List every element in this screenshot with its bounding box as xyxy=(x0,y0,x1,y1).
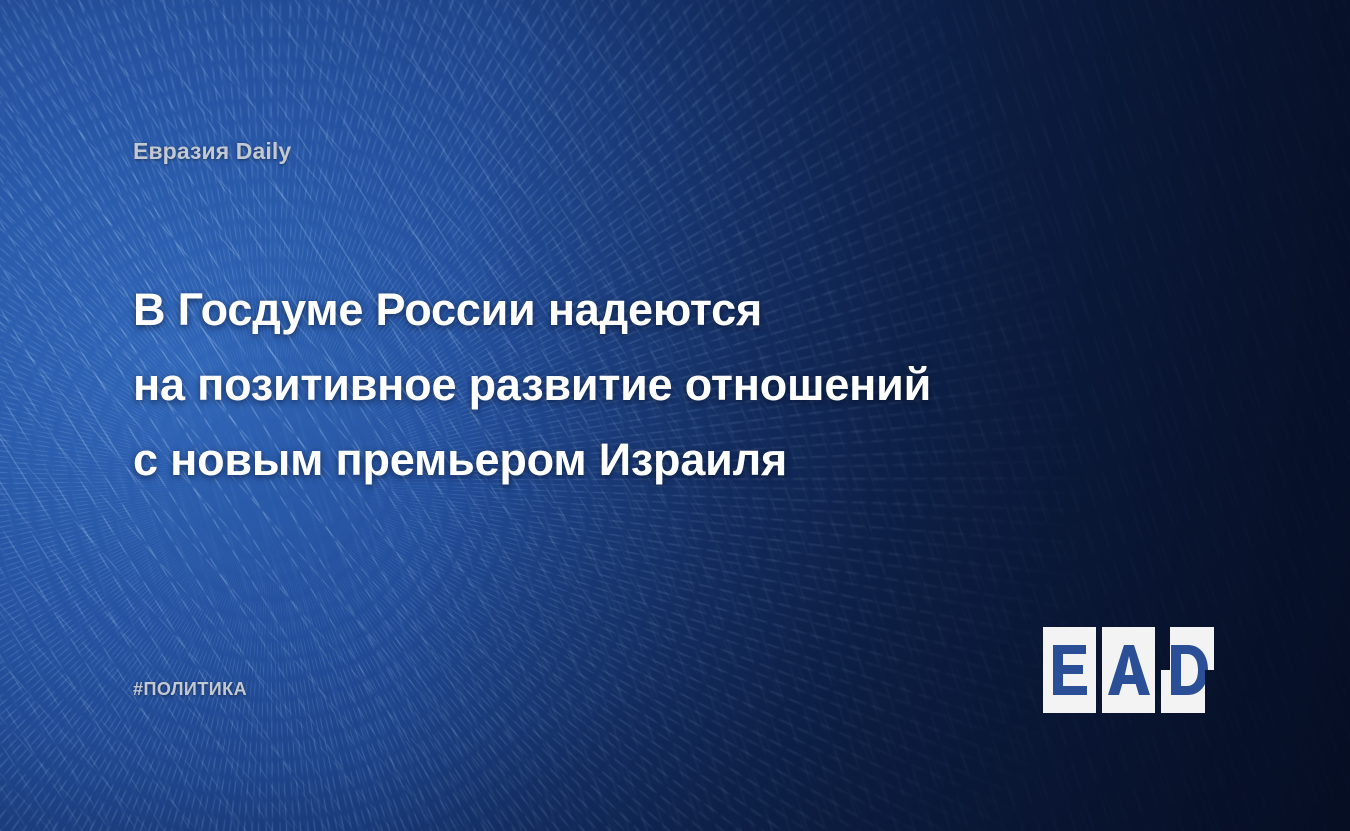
headline-line-3: с новым премьером Израиля xyxy=(133,422,1133,497)
logo-letter-a-icon xyxy=(1108,645,1150,695)
category-tag[interactable]: #ПОЛИТИКА xyxy=(133,679,247,700)
headline: В Госдуме России надеются на позитивное … xyxy=(133,272,1133,497)
logo-tile-d-bottom-half xyxy=(1161,670,1205,713)
logo-tile-a xyxy=(1102,627,1155,713)
card-content: Евразия Daily В Госдуме России надеются … xyxy=(0,0,1350,831)
logo-letter-e-icon xyxy=(1053,645,1087,695)
logo-letter-d-icon xyxy=(1161,670,1205,713)
news-share-card: Евразия Daily В Госдуме России надеются … xyxy=(0,0,1350,831)
brand-name: Евразия Daily xyxy=(133,138,291,165)
eadaily-logo[interactable] xyxy=(1043,627,1214,713)
headline-line-2: на позитивное развитие отношений xyxy=(133,347,1133,422)
logo-letter-d-icon xyxy=(1170,627,1214,670)
logo-tile-e xyxy=(1043,627,1096,713)
logo-tile-d-split xyxy=(1161,627,1214,713)
headline-line-1: В Госдуме России надеются xyxy=(133,272,1133,347)
logo-tile-d-top-half xyxy=(1170,627,1214,670)
